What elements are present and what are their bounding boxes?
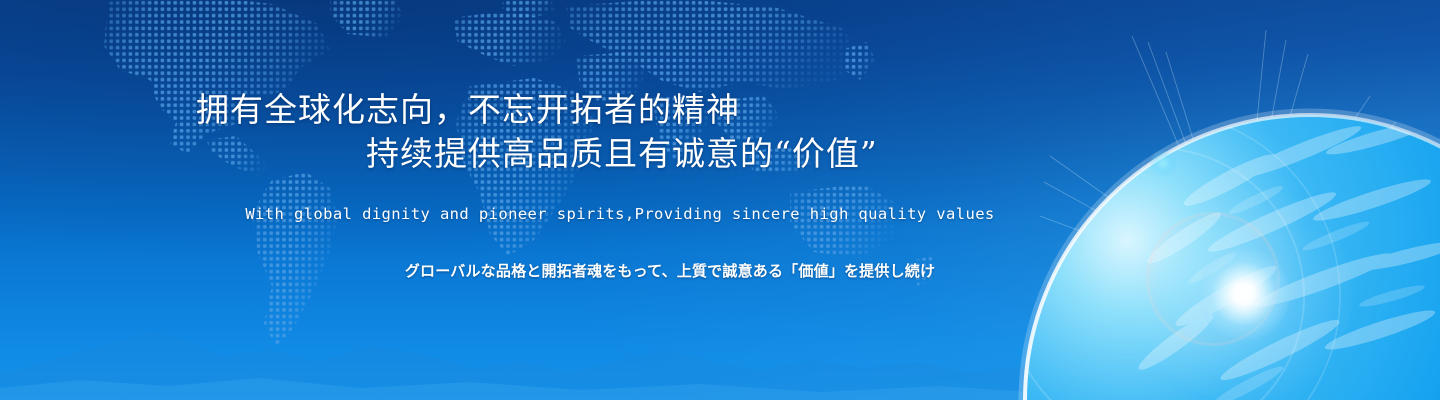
sun-rays-icon [1040,30,1440,370]
headline-line-1: 拥有全球化志向，不忘开拓者的精神 [0,88,1020,132]
mountain-silhouette-icon [0,310,1180,400]
lens-flare-ring [1146,212,1280,346]
headline-line-2: 持续提供高品质且有诚意的“价值” [0,132,1020,176]
background-vignette [0,0,1440,400]
sun-flare-icon [1198,248,1290,340]
globe-icon [980,0,1440,400]
sun-halo [1136,186,1352,400]
world-map-dots-icon [0,0,980,364]
subtitle-english: With global dignity and pioneer spirits,… [0,205,1240,223]
hero-banner: 拥有全球化志向，不忘开拓者的精神 持续提供高品质且有诚意的“价值” With g… [0,0,1440,400]
headline: 拥有全球化志向，不忘开拓者的精神 持续提供高品质且有诚意的“价值” [0,88,1020,176]
banner-copy: 拥有全球化志向，不忘开拓者的精神 持续提供高品质且有诚意的“价值” With g… [0,0,1100,400]
subtitle-japanese: グローバルな品格と開拓者魂をもって、上質で誠意ある「価値」を提供し続け [0,260,1340,281]
lens-flare-orb-icon [1150,150,1176,176]
